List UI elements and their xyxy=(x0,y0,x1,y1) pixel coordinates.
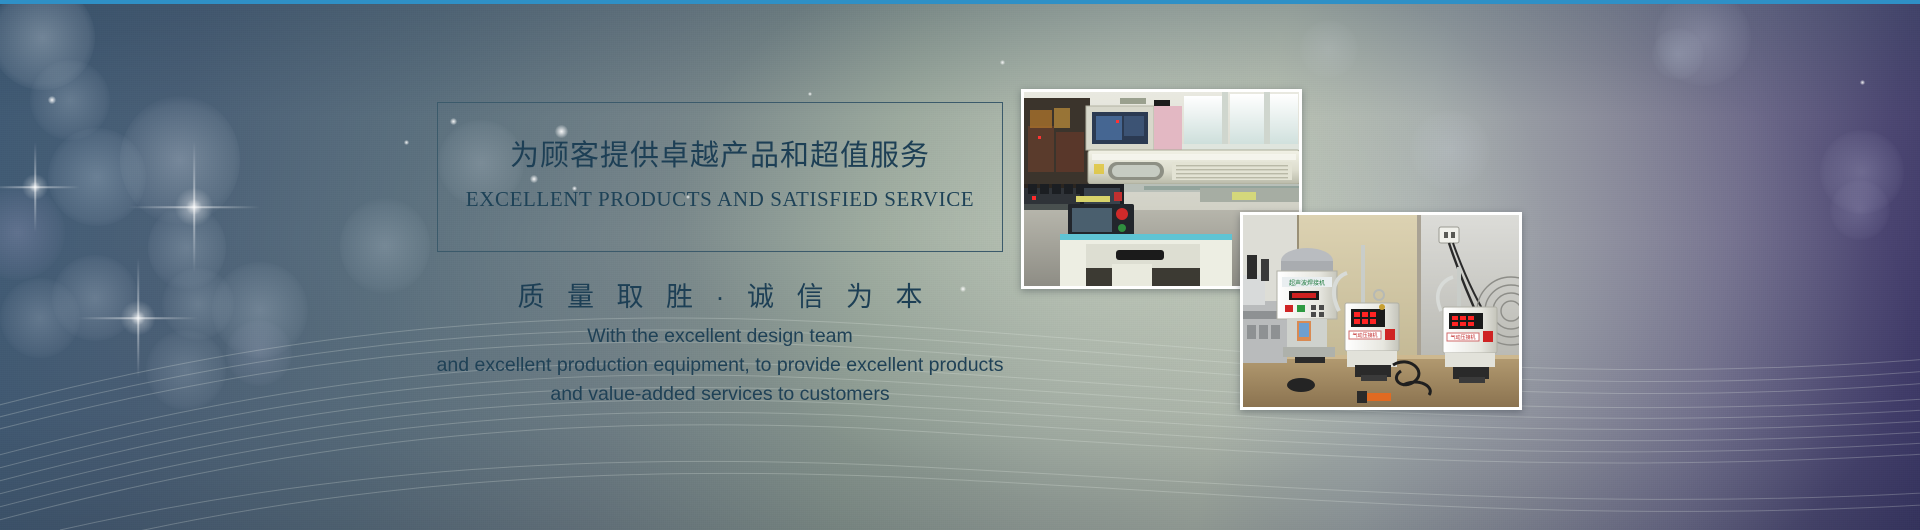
headline-frame: 为顾客提供卓越产品和超值服务 EXCELLENT PRODUCTS AND SA… xyxy=(437,102,1003,252)
headline-english: EXCELLENT PRODUCTS AND SATISFIED SERVICE xyxy=(438,187,1002,212)
body-line-2: and excellent production equipment, to p… xyxy=(337,351,1103,380)
body-line-1: With the excellent design team xyxy=(337,322,1103,351)
top-accent-bar xyxy=(0,0,1920,4)
body-copy: With the excellent design team and excel… xyxy=(337,322,1103,409)
promo-banner: 为顾客提供卓越产品和超值服务 EXCELLENT PRODUCTS AND SA… xyxy=(0,0,1920,530)
slogan-text: 质 量 取 胜 · 诚 信 为 本 xyxy=(437,275,1003,314)
photo-test-machines[interactable]: 超声波焊接机 xyxy=(1240,212,1522,410)
svg-text:气动压接机: 气动压接机 xyxy=(1450,334,1475,341)
photo-test-machines-image: 超声波焊接机 xyxy=(1243,215,1519,407)
body-line-3: and value-added services to customers xyxy=(337,380,1103,409)
headline-chinese: 为顾客提供卓越产品和超值服务 xyxy=(438,132,1002,174)
svg-text:超声波焊接机: 超声波焊接机 xyxy=(1289,279,1325,287)
noise-texture xyxy=(0,0,1920,530)
svg-text:气动压接机: 气动压接机 xyxy=(1352,332,1377,339)
